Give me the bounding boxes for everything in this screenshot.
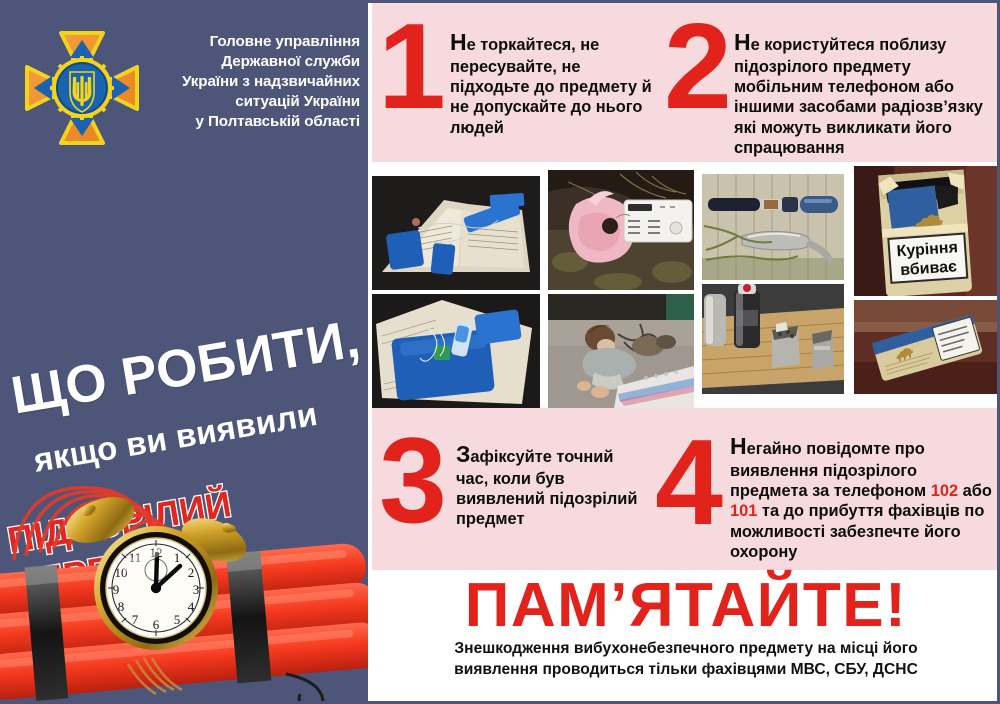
svg-text:8: 8 (118, 599, 125, 614)
time-bomb-illustration: 1212 345 678 91011 (0, 432, 368, 704)
remember-subtitle-line-1: Знешкодження вибухонебезпечного предмету… (386, 639, 986, 660)
step-3-number: 3 (376, 422, 450, 533)
svg-text:6: 6 (153, 617, 160, 632)
svg-text:2: 2 (188, 565, 195, 580)
remember-title: ПАМ’ЯТАЙТЕ! (372, 570, 1000, 637)
photo-pen-and-pipe-device (702, 174, 844, 280)
step-3-text: Зафіксуйте точний час, коли був виявлени… (450, 422, 648, 530)
svg-text:5: 5 (174, 612, 181, 627)
svg-text:1: 1 (174, 550, 181, 565)
photo-doll-with-wires (548, 294, 694, 408)
photo-cigarette-pack-closed (854, 300, 1000, 394)
steps-row-top: 1 Не торкайтеся, не пересувайте, не підх… (372, 0, 1000, 162)
org-name-line-3: України з надзвичайних (150, 72, 360, 92)
step-1-text: Не торкайтеся, не пересувайте, не підход… (440, 14, 652, 138)
step-4-body-before: егайно повідомте про виявлення підозріло… (730, 440, 931, 500)
step-4-text: Негайно повідомте про виявлення підозріл… (726, 422, 998, 562)
step-2-text: Не користуйтеся поблизу підозрілого пред… (730, 14, 994, 158)
poster-root: Головне управління Державної служби Укра… (0, 0, 1000, 704)
emergency-phone-102: 102 (931, 482, 958, 500)
photo-cans-and-tubes-on-board (702, 284, 844, 394)
organization-brand-block: Головне управління Державної служби Укра… (8, 18, 360, 158)
step-2-body: е користуйтеся поблизу підозрілого предм… (734, 36, 983, 157)
svg-text:3: 3 (193, 582, 200, 597)
evidence-photo-grid: Куріння вбиває (372, 162, 1000, 408)
step-4-body-between: або (958, 482, 992, 500)
step-4-number: 4 (652, 422, 726, 535)
svg-text:4: 4 (188, 599, 195, 614)
steps-row-mid: 3 Зафіксуйте точний час, коли був виявле… (372, 408, 1000, 570)
poster-headline: ЩО РОБИТИ, якщо ви виявили ПІДОЗРІЛИЙ ПР… (0, 170, 368, 430)
photo-book-with-explosive-2 (372, 294, 540, 408)
dsns-ukraine-emblem (20, 26, 144, 150)
step-2: 2 Не користуйтеся поблизу підозрілого пр… (664, 0, 1000, 162)
photo-book-with-explosive-1 (372, 176, 540, 290)
step-4-body-after: та до прибуття фахівців по можливості за… (730, 502, 984, 561)
org-name-line-2: Державної служби (150, 52, 360, 72)
left-blue-panel: Головне управління Державної служби Укра… (0, 0, 368, 704)
frame-top-border (0, 0, 1000, 3)
org-name-line-5: у Полтавській області (150, 112, 360, 132)
step-1-number: 1 (378, 14, 440, 119)
step-1-body: е торкайтеся, не пересувайте, не підходь… (450, 36, 652, 137)
step-1: 1 Не торкайтеся, не пересувайте, не підх… (372, 0, 664, 162)
step-2-lead-letter: Н (734, 29, 751, 55)
photo-pink-bag-with-device (548, 170, 694, 290)
step-3-lead-letter: З (456, 441, 470, 467)
step-1-lead-letter: Н (450, 29, 467, 55)
step-4-lead-letter: Н (730, 433, 747, 459)
org-name-line-4: ситуацій України (150, 92, 360, 112)
org-name-line-1: Головне управління (150, 32, 360, 52)
remember-banner: ПАМ’ЯТАЙТЕ! Знешкодження вибухонебезпечн… (372, 570, 1000, 704)
remember-subtitle: Знешкодження вибухонебезпечного предмету… (372, 637, 1000, 681)
organization-name: Головне управління Державної служби Укра… (150, 32, 360, 132)
step-4: 4 Негайно повідомте про виявлення підозр… (652, 408, 1000, 570)
step-3-body: афіксуйте точний час, коли був виявлений… (456, 448, 637, 528)
remember-subtitle-line-2: виявлення проводиться тільки фахівцями М… (386, 660, 986, 681)
step-2-number: 2 (664, 14, 730, 119)
step-3: 3 Зафіксуйте точний час, коли був виявле… (372, 408, 652, 570)
svg-text:9: 9 (113, 582, 120, 597)
photo-cigarette-pack-open: Куріння вбиває (854, 166, 1000, 296)
svg-text:7: 7 (132, 612, 139, 627)
emergency-phone-101: 101 (730, 502, 757, 520)
